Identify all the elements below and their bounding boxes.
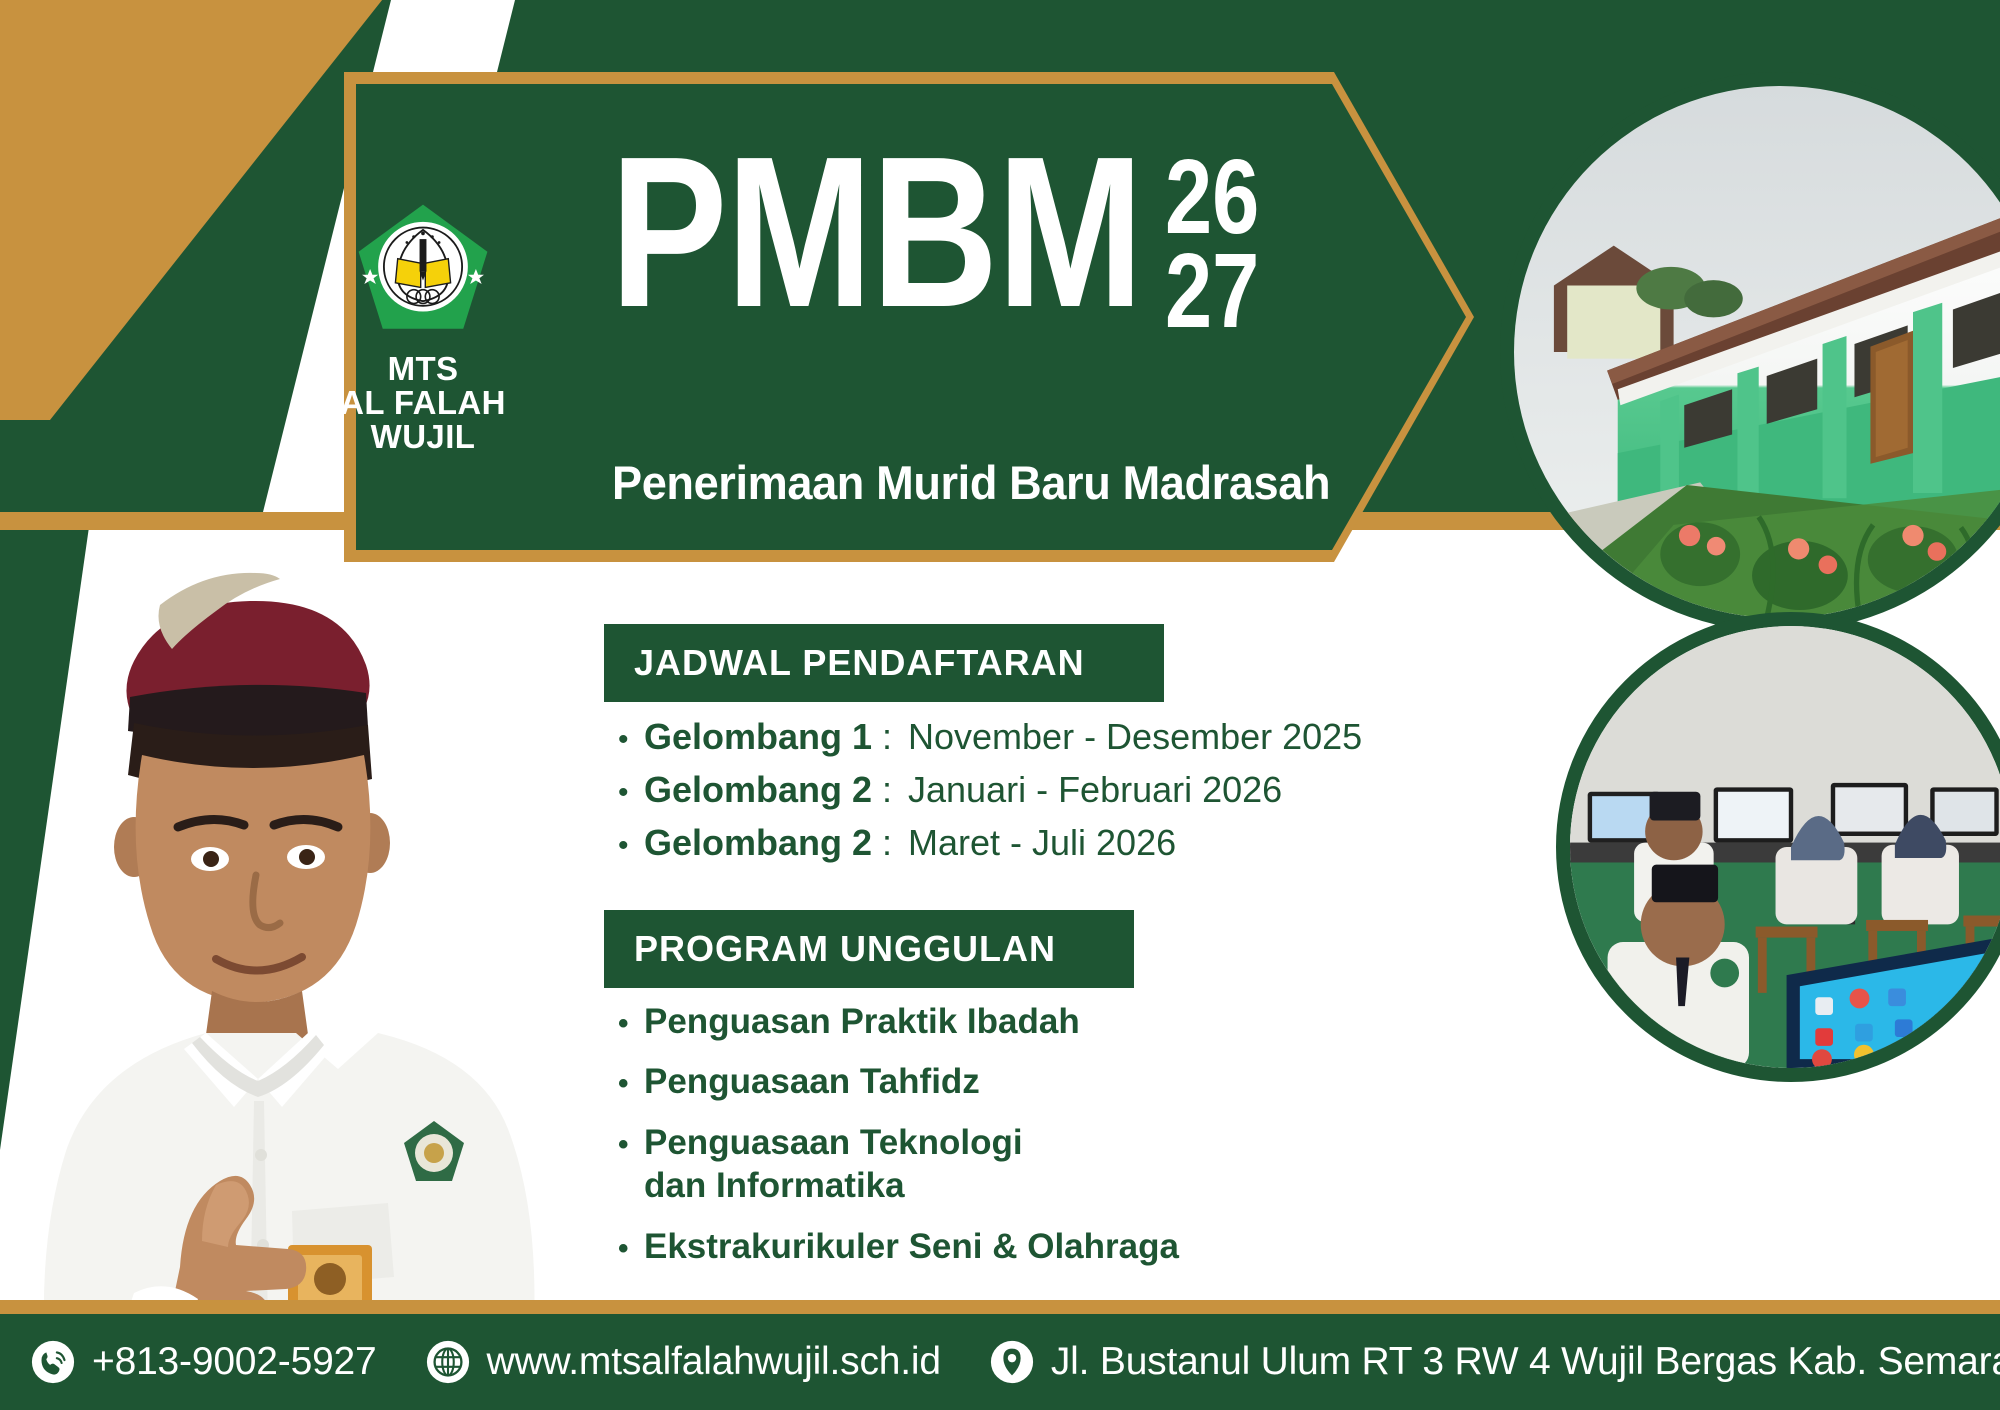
bullet-icon: •: [618, 778, 644, 808]
website-url: www.mtsalfalahwujil.sch.id: [487, 1340, 941, 1384]
poster-canvas: MTS AL FALAH WUJIL PMBM 26 27 Penerimaan…: [0, 0, 2000, 1410]
footer-address[interactable]: Jl. Bustanul Ulum RT 3 RW 4 Wujil Bergas…: [989, 1339, 2000, 1385]
bullet-icon: •: [618, 1069, 644, 1099]
schedule-value: Maret - Juli 2026: [908, 822, 1176, 864]
school-crest-icon: [354, 200, 492, 338]
program-text: Penguasaan Teknologi dan Informatika: [644, 1121, 1074, 1208]
contact-footer: +813-9002-5927 www.mtsalfalahwujil.sch.i…: [0, 1314, 2000, 1410]
pmbm-title: PMBM: [610, 140, 1142, 325]
brand-block: MTS AL FALAH WUJIL: [312, 200, 534, 500]
schedule-label: Gelombang 2: [644, 769, 882, 811]
footer-gold-rule: [0, 1300, 2000, 1314]
footer-phone[interactable]: +813-9002-5927: [30, 1339, 377, 1385]
colon-separator: :: [882, 769, 908, 811]
program-text: Ekstrakurikuler Seni & Olahraga: [644, 1225, 1179, 1268]
list-item: • Gelombang 1 : November - Desember 2025: [618, 716, 1518, 758]
school-name: MTS AL FALAH WUJIL: [312, 352, 534, 454]
map-pin-icon: [989, 1339, 1035, 1385]
computer-lab-photo: [1556, 612, 2000, 1082]
list-item: • Ekstrakurikuler Seni & Olahraga: [618, 1225, 1378, 1268]
list-item: • Gelombang 2 : Maret - Juli 2026: [618, 822, 1518, 864]
schedule-label: Gelombang 2: [644, 822, 882, 864]
programs-heading: PROGRAM UNGGULAN: [604, 910, 1134, 988]
schedule-heading: JADWAL PENDAFTARAN: [604, 624, 1164, 702]
schedule-list: • Gelombang 1 : November - Desember 2025…: [618, 716, 1518, 875]
program-text: Penguasan Praktik Ibadah: [644, 1000, 1080, 1043]
page-title: PMBM 26 27: [610, 140, 1293, 341]
bullet-icon: •: [618, 1130, 644, 1160]
bullet-icon: •: [618, 831, 644, 861]
page-subtitle: Penerimaan Murid Baru Madrasah: [612, 455, 1330, 510]
list-item: • Gelombang 2 : Januari - Februari 2026: [618, 769, 1518, 811]
schedule-value: Januari - Februari 2026: [908, 769, 1282, 811]
bullet-icon: •: [618, 1234, 644, 1264]
list-item: • Penguasaan Teknologi dan Informatika: [618, 1121, 1378, 1208]
schedule-value: November - Desember 2025: [908, 716, 1362, 758]
list-item: • Penguasan Praktik Ibadah: [618, 1000, 1378, 1043]
phone-icon: [30, 1339, 76, 1385]
phone-number: +813-9002-5927: [92, 1340, 377, 1384]
footer-website[interactable]: www.mtsalfalahwujil.sch.id: [425, 1339, 941, 1385]
globe-icon: [425, 1339, 471, 1385]
year-bottom: 27: [1165, 242, 1267, 342]
list-item: • Penguasaan Tahfidz: [618, 1060, 1378, 1103]
programs-list: • Penguasan Praktik Ibadah • Penguasaan …: [618, 1000, 1378, 1285]
bullet-icon: •: [618, 1009, 644, 1039]
address-text: Jl. Bustanul Ulum RT 3 RW 4 Wujil Bergas…: [1051, 1340, 2000, 1384]
colon-separator: :: [882, 716, 908, 758]
bullet-icon: •: [618, 725, 644, 755]
colon-separator: :: [882, 822, 908, 864]
schedule-label: Gelombang 1: [644, 716, 882, 758]
program-text: Penguasaan Tahfidz: [644, 1060, 980, 1103]
